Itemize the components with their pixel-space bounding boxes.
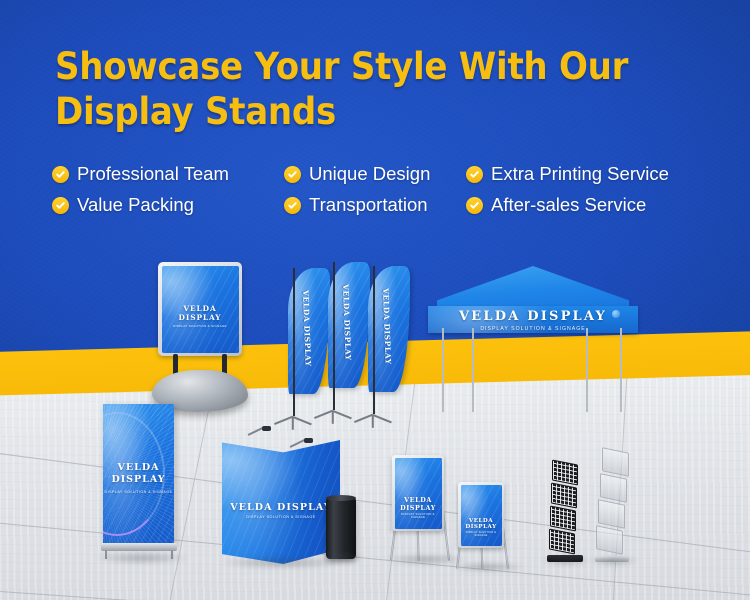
rack-shelf [598,499,625,529]
aframe-board: VELDA DISPLAY DISPLAY SOLUTION & SIGNAGE [392,455,444,531]
rack-shelf [550,505,576,531]
brand-tagline: DISPLAY SOLUTION & SIGNAGE [162,324,239,328]
popup-brand: VELDA DISPLAY DISPLAY SOLUTION & SIGNAGE [222,502,340,519]
podium-top [326,495,356,501]
feature-label: Value Packing [77,194,194,216]
aframe-brand: VELDA DISPLAY DISPLAY SOLUTION & SIGNAGE [461,518,502,537]
brand-name-line-2: DISPLAY [111,474,165,485]
popup-graphic-panel: VELDA DISPLAY DISPLAY SOLUTION & SIGNAGE [222,440,340,564]
check-circle-icon [52,197,69,214]
page-title: Showcase Your Style With Our Display Sta… [55,44,644,134]
brand-name: VELDA DISPLAY [459,309,607,324]
brand-tagline: DISPLAY SOLUTION & SIGNAGE [395,513,442,519]
feature-row: Value Packing Transportation After-sales… [52,194,712,216]
feature-item-professional-team: Professional Team [52,163,284,185]
feature-item-after-sales-service: After-sales Service [466,194,646,216]
feature-item-transportation: Transportation [284,194,466,216]
ground-shadow [542,556,590,566]
aframe-brand: VELDA DISPLAY DISPLAY SOLUTION & SIGNAGE [395,496,442,519]
tent-leg [620,328,622,412]
check-circle-icon [466,166,483,183]
flag-cross-base [357,406,403,422]
check-circle-icon [52,166,69,183]
poster-brand: VELDA DISPLAY DISPLAY SOLUTION & SIGNAGE [162,304,239,328]
feature-item-unique-design: Unique Design [284,163,466,185]
tent-leg [586,328,588,412]
feature-item-extra-printing-service: Extra Printing Service [466,163,669,185]
product-teardrop-flag[interactable]: VELDA DISPLAY [368,266,414,426]
feature-label: Unique Design [309,163,430,185]
spotlight-arm [290,439,305,447]
feature-row: Professional Team Unique Design Extra Pr… [52,163,712,185]
headline-line-1: Showcase Your Style With Our [55,45,628,88]
rack-shelf [549,528,575,554]
tent-brand: VELDA DISPLAY DISPLAY SOLUTION & SIGNAGE [428,309,638,332]
ground-shadow [386,554,466,565]
spotlight-head [304,438,313,443]
product-curved-pop-up-wall[interactable]: VELDA DISPLAY DISPLAY SOLUTION & SIGNAGE [222,440,340,564]
rollup-artwork: VELDA DISPLAY DISPLAY SOLUTION & SIGNAGE [103,404,174,544]
check-circle-icon [284,197,301,214]
ground-shadow [590,556,638,566]
brand-tagline: DISPLAY SOLUTION & SIGNAGE [222,515,340,519]
aframe-artwork: VELDA DISPLAY DISPLAY SOLUTION & SIGNAGE [395,458,442,529]
feature-label: Professional Team [77,163,229,185]
rack-shelf [551,482,577,508]
product-roll-up-banner[interactable]: VELDA DISPLAY DISPLAY SOLUTION & SIGNAGE [103,404,177,559]
brand-name: VELDA DISPLAY [179,304,222,322]
headline-line-2: Display Stands [55,89,644,134]
brand-name: VELDA DISPLAY [230,502,332,513]
brand-name: VELDA DISPLAY [465,518,496,530]
brand-tagline: DISPLAY SOLUTION & SIGNAGE [103,487,174,499]
aframe-board: VELDA DISPLAY DISPLAY SOLUTION & SIGNAGE [458,482,504,548]
feature-label: Transportation [309,194,428,216]
check-circle-icon [284,166,301,183]
product-a-frame-sign-board[interactable]: VELDA DISPLAY DISPLAY SOLUTION & SIGNAGE [392,455,458,561]
rack-shelf [596,525,623,555]
rollup-brand: VELDA DISPLAY DISPLAY SOLUTION & SIGNAGE [103,462,174,499]
rack-shelf [552,459,578,485]
feature-list: Professional Team Unique Design Extra Pr… [52,163,712,225]
rack-shelf [600,473,627,503]
spotlight-head [262,426,271,431]
product-promotion-podium[interactable] [326,497,356,559]
podium-body [326,497,356,559]
flag-mast [373,266,375,414]
tent-leg [442,328,444,412]
flag-mast [293,268,295,416]
feature-label: Extra Printing Service [491,163,669,185]
feature-label: After-sales Service [491,194,646,216]
ground-shadow [96,552,188,564]
brand-tagline: DISPLAY SOLUTION & SIGNAGE [461,531,502,537]
brand-name-line-1: VELDA [118,462,160,473]
product-brochure-rack-silver[interactable] [595,450,631,562]
tent-valance: VELDA DISPLAY DISPLAY SOLUTION & SIGNAGE [428,306,638,333]
brand-tagline: DISPLAY SOLUTION & SIGNAGE [428,326,638,332]
poster-frame: VELDA DISPLAY DISPLAY SOLUTION & SIGNAGE [158,262,242,356]
rollup-cassette [101,543,177,551]
ground-shadow [452,562,524,572]
brand-name: VELDA DISPLAY [400,496,436,512]
product-a-frame-sign-board[interactable]: VELDA DISPLAY DISPLAY SOLUTION & SIGNAGE [458,482,518,568]
product-brochure-rack-black[interactable] [548,462,582,562]
product-water-base-poster-stand[interactable]: VELDA DISPLAY DISPLAY SOLUTION & SIGNAGE [152,262,248,412]
promo-banner: Showcase Your Style With Our Display Sta… [0,0,750,600]
check-circle-icon [466,197,483,214]
flag-mast [333,262,335,410]
rack-shelf [602,447,629,477]
feature-item-value-packing: Value Packing [52,194,284,216]
product-canopy-tent[interactable]: VELDA DISPLAY DISPLAY SOLUTION & SIGNAGE [428,266,638,414]
ground-shadow [322,552,362,562]
tent-leg [472,328,474,412]
aframe-artwork: VELDA DISPLAY DISPLAY SOLUTION & SIGNAGE [461,485,502,546]
poster-artwork: VELDA DISPLAY DISPLAY SOLUTION & SIGNAGE [162,266,239,353]
tent-roof [437,266,629,310]
